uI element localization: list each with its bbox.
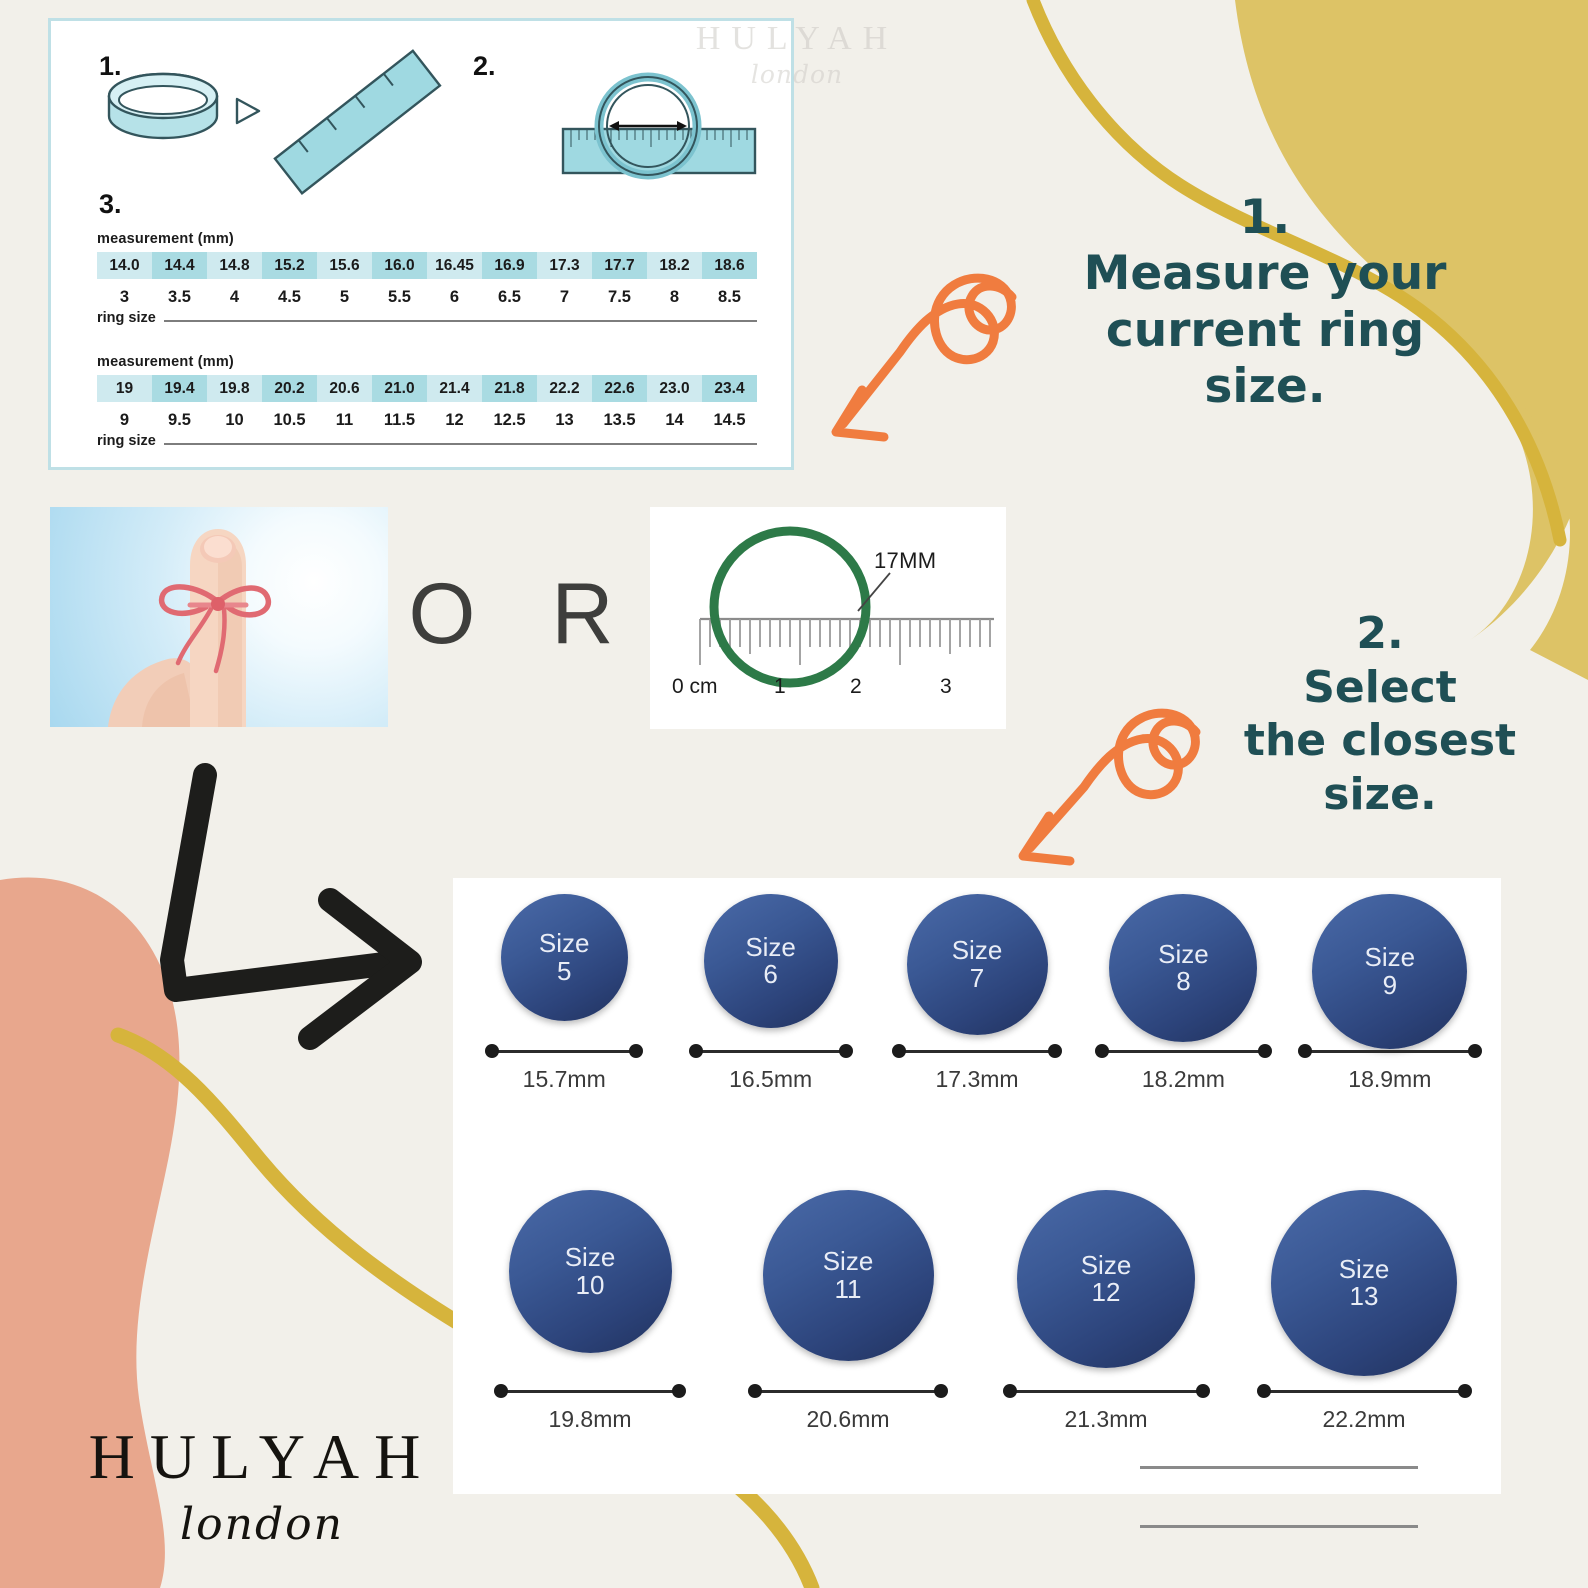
ring-disc[interactable]: Size 6 — [704, 894, 838, 1028]
dimension-bar — [898, 1045, 1056, 1057]
orange-curly-arrow-1 — [836, 278, 1012, 437]
size-number: 5 — [557, 958, 571, 985]
dimension-dot-left — [892, 1044, 906, 1058]
table-2-footer-label: ring size — [97, 433, 156, 449]
table-cell: 16.0 — [372, 252, 427, 279]
table-cell: 20.2 — [262, 375, 317, 402]
footer-rule-2 — [1140, 1525, 1418, 1528]
instruction-step-1: 1. Measure your current ring size. — [1040, 190, 1490, 416]
ring-size-row-1: Size 5 15.7mm Size 6 — [453, 894, 1501, 1093]
ruler-tick-label: 1 — [774, 675, 786, 699]
table-cell: 6.5 — [482, 279, 537, 310]
dimension-bar — [1009, 1385, 1204, 1397]
dimension-label: 17.3mm — [935, 1066, 1018, 1093]
table-cell: 7.5 — [592, 279, 647, 310]
or-divider-label: O R — [404, 565, 644, 664]
dimension-dot-right — [1196, 1384, 1210, 1398]
ring-disc[interactable]: Size 12 — [1017, 1190, 1195, 1368]
table-cell: 5.5 — [372, 279, 427, 310]
ring-size-option-9[interactable]: Size 9 18.9mm — [1287, 894, 1493, 1093]
table-cell: 14.5 — [702, 402, 757, 433]
table-cell: 10 — [207, 402, 262, 433]
dimension-line — [1304, 1050, 1476, 1053]
dimension-dot-right — [672, 1384, 686, 1398]
dimension-dot-left — [1095, 1044, 1109, 1058]
dimension-line — [1263, 1390, 1466, 1393]
ring-band-icon — [109, 74, 217, 138]
dimension-group: 16.5mm — [695, 1045, 847, 1093]
footer-rule — [164, 443, 757, 445]
finger-with-string-photo — [50, 507, 388, 727]
dimension-group: 17.3mm — [898, 1045, 1056, 1093]
dimension-group: 19.8mm — [500, 1385, 680, 1433]
ring-on-ruler-icon — [563, 77, 755, 175]
footer-rule-1 — [1140, 1466, 1418, 1469]
dimension-line — [754, 1390, 942, 1393]
dimension-dot-left — [748, 1384, 762, 1398]
arrowhead-icon — [237, 99, 259, 123]
instruction-1-number: 1. — [1040, 190, 1490, 246]
dimension-bar — [1263, 1385, 1466, 1397]
brand-tagline: london — [52, 1499, 472, 1550]
table-cell: 8 — [647, 279, 702, 310]
dimension-dot-left — [1257, 1384, 1271, 1398]
instruction-1-line-2: current ring — [1040, 303, 1490, 359]
brand-name: HULYAH — [52, 1425, 472, 1489]
ring-size-option-5[interactable]: Size 5 15.7mm — [461, 894, 667, 1093]
dimension-label: 15.7mm — [523, 1066, 606, 1093]
table-2-mm-row: 19 19.4 19.8 20.2 20.6 21.0 21.4 21.8 22… — [97, 375, 757, 402]
infographic-canvas: 1. 2. 3. — [0, 0, 1588, 1588]
ring-disc[interactable]: Size 10 — [509, 1190, 672, 1353]
ring-size-table-1: measurement (mm) 14.0 14.4 14.8 15.2 15.… — [97, 231, 757, 326]
ring-size-option-7[interactable]: Size 7 17.3mm — [874, 894, 1080, 1093]
ring-disc[interactable]: Size 7 — [907, 894, 1048, 1035]
table-2-size-row: 9 9.5 10 10.5 11 11.5 12 12.5 13 13.5 14… — [97, 402, 757, 433]
table-cell: 17.7 — [592, 252, 647, 279]
table-1-size-row: 3 3.5 4 4.5 5 5.5 6 6.5 7 7.5 8 8.5 — [97, 279, 757, 310]
dimension-dot-right — [629, 1044, 643, 1058]
table-cell: 19 — [97, 375, 152, 402]
table-cell: 8.5 — [702, 279, 757, 310]
size-word: Size — [1158, 941, 1209, 968]
dimension-dot-right — [1458, 1384, 1472, 1398]
ring-size-option-11[interactable]: Size 11 20.6mm — [719, 1190, 977, 1433]
ruler-measure-card: 17MM 0 cm 1 2 3 — [650, 507, 1006, 729]
table-cell: 19.8 — [207, 375, 262, 402]
size-word: Size — [1081, 1252, 1132, 1279]
size-number: 7 — [970, 965, 984, 992]
size-word: Size — [745, 934, 796, 961]
dimension-dot-left — [689, 1044, 703, 1058]
dimension-dot-left — [1298, 1044, 1312, 1058]
size-number: 8 — [1176, 968, 1190, 995]
dimension-bar — [1101, 1045, 1266, 1057]
dimension-line — [1101, 1050, 1266, 1053]
dimension-line — [695, 1050, 847, 1053]
table-cell: 9 — [97, 402, 152, 433]
table-cell: 14.8 — [207, 252, 262, 279]
size-number: 10 — [576, 1272, 605, 1299]
size-word: Size — [565, 1244, 616, 1271]
table-cell: 16.45 — [427, 252, 482, 279]
ring-disc[interactable]: Size 13 — [1271, 1190, 1457, 1376]
table-cell: 13.5 — [592, 402, 647, 433]
size-word: Size — [1339, 1256, 1390, 1283]
table-1-header: measurement (mm) — [97, 231, 757, 247]
dimension-bar — [1304, 1045, 1476, 1057]
ring-disc[interactable]: Size 9 — [1312, 894, 1467, 1049]
dimension-label: 20.6mm — [806, 1406, 889, 1433]
table-1-mm-row: 14.0 14.4 14.8 15.2 15.6 16.0 16.45 16.9… — [97, 252, 757, 279]
finger-illustration — [50, 507, 388, 727]
size-number: 13 — [1350, 1283, 1379, 1310]
table-cell: 11 — [317, 402, 372, 433]
instruction-2-number: 2. — [1190, 607, 1570, 661]
table-cell: 13 — [537, 402, 592, 433]
table-cell: 23.0 — [647, 375, 702, 402]
table-cell: 14 — [647, 402, 702, 433]
ruler-callout-17mm: 17MM — [874, 548, 936, 574]
measure-steps-illustration — [51, 21, 797, 221]
size-number: 6 — [763, 961, 777, 988]
ring-size-option-8[interactable]: Size 8 18.2mm — [1080, 894, 1286, 1093]
ring-size-option-10[interactable]: Size 10 19.8mm — [461, 1190, 719, 1433]
size-number: 11 — [835, 1276, 862, 1303]
dimension-line — [500, 1390, 680, 1393]
ring-size-option-6[interactable]: Size 6 16.5mm — [667, 894, 873, 1093]
dimension-dot-left — [494, 1384, 508, 1398]
dimension-group: 18.9mm — [1304, 1045, 1476, 1093]
ruler-tick-label: 2 — [850, 675, 862, 699]
table-cell: 12 — [427, 402, 482, 433]
table-cell: 9.5 — [152, 402, 207, 433]
dimension-label: 18.2mm — [1142, 1066, 1225, 1093]
table-cell: 22.2 — [537, 375, 592, 402]
size-number: 9 — [1383, 972, 1397, 999]
table-2-footer: ring size — [97, 433, 757, 449]
ring-size-option-13[interactable]: Size 13 22.2mm — [1235, 1190, 1493, 1433]
table-cell: 10.5 — [262, 402, 317, 433]
table-cell: 11.5 — [372, 402, 427, 433]
dimension-group: 15.7mm — [491, 1045, 637, 1093]
ring-disc[interactable]: Size 5 — [501, 894, 628, 1021]
ring-disc[interactable]: Size 11 — [763, 1190, 934, 1361]
table-cell: 5 — [317, 279, 372, 310]
tilted-ruler-icon — [275, 51, 440, 193]
dimension-label: 18.9mm — [1348, 1066, 1431, 1093]
size-word: Size — [539, 930, 590, 957]
dimension-line — [1009, 1390, 1204, 1393]
dimension-bar — [754, 1385, 942, 1397]
instruction-2-line-3: size. — [1190, 768, 1570, 822]
ruler-tick-label: 3 — [940, 675, 952, 699]
dimension-line — [898, 1050, 1056, 1053]
table-cell: 21.0 — [372, 375, 427, 402]
table-cell: 7 — [537, 279, 592, 310]
size-word: Size — [1365, 944, 1416, 971]
dimension-group: 18.2mm — [1101, 1045, 1266, 1093]
ruler-tick-label: 0 cm — [672, 675, 718, 699]
table-cell: 14.0 — [97, 252, 152, 279]
table-cell: 22.6 — [592, 375, 647, 402]
table-cell: 12.5 — [482, 402, 537, 433]
brand-logo: HULYAH london — [52, 1425, 472, 1550]
instruction-1-line-3: size. — [1040, 359, 1490, 415]
dimension-group: 20.6mm — [754, 1385, 942, 1433]
dimension-dot-right — [1048, 1044, 1062, 1058]
table-cell: 21.8 — [482, 375, 537, 402]
instruction-1-line-1: Measure your — [1040, 246, 1490, 302]
ring-disc[interactable]: Size 8 — [1109, 894, 1257, 1042]
instruction-step-2: 2. Select the closest size. — [1190, 607, 1570, 822]
table-cell: 6 — [427, 279, 482, 310]
dimension-bar — [695, 1045, 847, 1057]
dimension-dot-right — [1468, 1044, 1482, 1058]
dimension-label: 19.8mm — [548, 1406, 631, 1433]
footer-rule — [164, 320, 757, 322]
table-cell: 18.2 — [647, 252, 702, 279]
orange-curly-arrow-2 — [1023, 713, 1196, 861]
table-cell: 19.4 — [152, 375, 207, 402]
dimension-label: 22.2mm — [1322, 1406, 1405, 1433]
table-cell: 23.4 — [702, 375, 757, 402]
ring-measurement-card: 1. 2. 3. — [48, 18, 794, 470]
dimension-line — [491, 1050, 637, 1053]
green-ring-circle — [714, 531, 866, 683]
table-cell: 15.2 — [262, 252, 317, 279]
dimension-group: 22.2mm — [1263, 1385, 1466, 1433]
dimension-label: 21.3mm — [1064, 1406, 1147, 1433]
black-hand-arrow — [172, 775, 410, 1038]
dimension-dot-right — [839, 1044, 853, 1058]
table-cell: 20.6 — [317, 375, 372, 402]
table-2-header: measurement (mm) — [97, 354, 757, 370]
size-word: Size — [823, 1248, 874, 1275]
table-cell: 3 — [97, 279, 152, 310]
ring-size-selector-card: Size 5 15.7mm Size 6 — [453, 878, 1501, 1494]
table-cell: 4.5 — [262, 279, 317, 310]
ring-size-option-12[interactable]: Size 12 21.3mm — [977, 1190, 1235, 1433]
size-number: 12 — [1092, 1279, 1121, 1306]
table-1-footer-label: ring size — [97, 310, 156, 326]
dimension-dot-left — [1003, 1384, 1017, 1398]
size-word: Size — [952, 937, 1003, 964]
dimension-group: 21.3mm — [1009, 1385, 1204, 1433]
ring-size-table-2: measurement (mm) 19 19.4 19.8 20.2 20.6 … — [97, 354, 757, 449]
table-cell: 14.4 — [152, 252, 207, 279]
table-cell: 3.5 — [152, 279, 207, 310]
table-cell: 18.6 — [702, 252, 757, 279]
table-cell: 15.6 — [317, 252, 372, 279]
dimension-dot-right — [1258, 1044, 1272, 1058]
dimension-dot-right — [934, 1384, 948, 1398]
table-cell: 17.3 — [537, 252, 592, 279]
dimension-bar — [500, 1385, 680, 1397]
table-cell: 21.4 — [427, 375, 482, 402]
table-cell: 16.9 — [482, 252, 537, 279]
instruction-2-line-1: Select — [1190, 661, 1570, 715]
ring-size-row-2: Size 10 19.8mm Size 11 — [453, 1190, 1501, 1433]
dimension-label: 16.5mm — [729, 1066, 812, 1093]
dimension-bar — [491, 1045, 637, 1057]
table-1-footer: ring size — [97, 310, 757, 326]
table-cell: 4 — [207, 279, 262, 310]
instruction-2-line-2: the closest — [1190, 714, 1570, 768]
dimension-dot-left — [485, 1044, 499, 1058]
